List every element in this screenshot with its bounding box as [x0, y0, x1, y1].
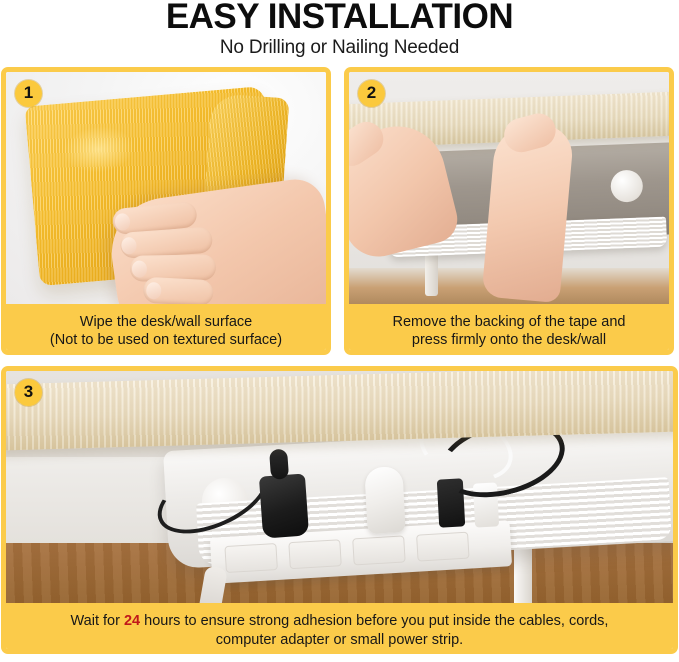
fingernail: [114, 213, 131, 231]
step-3-caption: Wait for 24 hours to ensure strong adhes…: [6, 603, 673, 654]
fingernail: [146, 282, 162, 300]
step-2-photo: 2: [349, 72, 669, 304]
white-adapter: [364, 466, 405, 534]
step-1-photo: 1: [6, 72, 326, 304]
step-2-caption-line-1: Remove the backing of the tape and: [355, 313, 663, 332]
step-panel-1: 1 Wipe the desk/wall surface (Not to be …: [1, 67, 331, 355]
step-panel-2: 2 Remove the backing of the tape and pre…: [344, 67, 674, 355]
power-socket: [352, 535, 406, 565]
finger-little: [143, 276, 214, 303]
page-subtitle: No Drilling or Nailing Needed: [0, 35, 679, 61]
fingernail: [132, 260, 147, 277]
step-badge-3: 3: [15, 379, 42, 406]
power-socket: [224, 543, 278, 573]
cloth-highlight: [61, 123, 137, 175]
caption-prefix: Wait for: [71, 613, 124, 629]
step-3-photo: 3: [6, 371, 673, 603]
page-title: EASY INSTALLATION: [0, 1, 679, 33]
step-1-caption: Wipe the desk/wall surface (Not to be us…: [6, 304, 326, 355]
step-panel-3: 3 Wait for 24 hours to ensure strong adh…: [1, 366, 678, 654]
step-2-caption: Remove the backing of the tape and press…: [349, 304, 669, 355]
step-badge-1: 1: [15, 80, 42, 107]
tray-end-cap: [610, 169, 643, 202]
step-2-caption-line-2: press firmly onto the desk/wall: [355, 331, 663, 350]
header: EASY INSTALLATION No Drilling or Nailing…: [0, 0, 679, 61]
steps-top-row: 1 Wipe the desk/wall surface (Not to be …: [0, 67, 679, 355]
infographic-page: EASY INSTALLATION No Drilling or Nailing…: [0, 0, 679, 662]
hours-highlight: 24: [124, 613, 140, 629]
step-3-caption-line-2: computer adapter or small power strip.: [16, 631, 663, 650]
step-badge-2: 2: [358, 80, 385, 107]
caption-mid: hours to ensure strong adhesion before y…: [140, 613, 608, 629]
power-socket: [416, 531, 470, 561]
black-plug: [259, 473, 309, 538]
fingernail: [121, 237, 137, 255]
right-hand: [481, 121, 574, 303]
step-1-caption-line-2: (Not to be used on textured surface): [12, 331, 320, 350]
step-3-caption-line-1: Wait for 24 hours to ensure strong adhes…: [16, 612, 663, 631]
power-socket: [288, 539, 342, 569]
step-1-caption-line-1: Wipe the desk/wall surface: [12, 313, 320, 332]
